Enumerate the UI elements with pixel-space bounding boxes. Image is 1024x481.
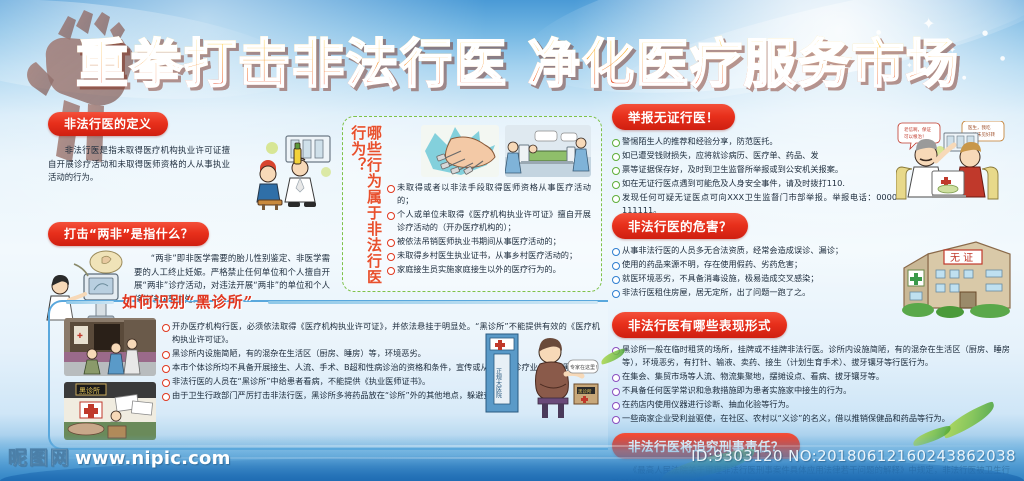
heading-report: 举报无证行医！	[612, 104, 735, 130]
illegal-behavior-item: 未取得乡村医生执业证书，从事乡村医疗活动的；	[387, 249, 591, 262]
svg-text:正规大医院: 正规大医院	[495, 368, 502, 399]
criminal-paragraph: 《最高人民法院关于审理非法行医刑事案件具体应用法律若干问题的解释》中规定，非法行…	[612, 464, 1010, 481]
page-title: 重拳打击非法行医 净化医疗服务市场	[118, 22, 918, 96]
building-sign-text: 无 证	[950, 252, 973, 264]
form-item: 一些商家企业受利益驱使，在社区、农村以“义诊”的名义，借以推销保健品和药品等行为…	[612, 412, 1010, 425]
harm-item: 从事非法行医的人员多无合法资质，经常会造成误诊、漏诊；	[612, 244, 858, 257]
illegal-behavior-item: 家庭接生员实施家庭接生以外的医疗行为的。	[387, 263, 591, 276]
svg-text:可以根治！: 可以根治！	[904, 133, 927, 140]
report-item: 票等证据保存好，及时到卫生监督所举报或到公安机关报案。	[612, 163, 900, 176]
illegal-practice-behaviors-box: 哪些行为属于非法行医行为？	[342, 116, 602, 292]
form-item: 黑诊所一般在临时租赁的场所，挂牌或不挂牌非法行医。诊所内设施简陋，有的混杂在生活…	[612, 343, 1010, 369]
wave-line-decoration	[0, 445, 1024, 447]
svg-text:黑诊所: 黑诊所	[578, 388, 592, 395]
heading-definition: 非法行医的定义	[48, 112, 168, 136]
harm-item: 非法行医租住房屋，居无定所，出了问题一跑了之。	[612, 286, 858, 299]
illegal-behavior-item: 个人或单位未取得《医疗机构执业许可证》擅自开展诊疗活动的（开办医疗机构的）；	[387, 208, 591, 234]
definition-heading-wrap: 非法行医的定义	[48, 112, 330, 136]
black-clinic-interior-illustration: 黑诊所	[64, 382, 156, 440]
identify-black-clinic-panel: 如何识别“黑诊所” ✚	[48, 300, 608, 450]
sparkle-icon: ●	[982, 30, 988, 37]
form-item: 在集会、集贸市场等人流、物流集聚地，摆摊设点、看病、拔牙镶牙等。	[612, 370, 1010, 383]
title-rule-right	[268, 301, 598, 304]
section-report: 举报无证行医！ 警惕陌生人的推荐和经验分享，防范医托。如已遭受钱财损失，应将就诊…	[612, 104, 1012, 205]
svg-text:专家在这里！: 专家在这里！	[570, 364, 600, 371]
sparkle-icon: ●	[1000, 56, 1005, 62]
illegal-behavior-item: 被依法吊销医师执业书期间从事医疗活动的；	[387, 235, 591, 248]
svg-text:医生，我吃: 医生，我吃	[968, 124, 991, 131]
pregnant-woman-building-illustration: 正规大医院 专家在这里！ 黑诊所	[480, 330, 600, 422]
svg-text:老信啊，保证: 老信啊，保证	[904, 126, 931, 133]
svg-text:✚: ✚	[77, 332, 83, 340]
harm-item: 就医环境恶劣，不具备消毒设施，极易造成交叉感染；	[612, 272, 858, 285]
heading-liangfei: 打击“两非”是指什么？	[48, 222, 209, 246]
poster-canvas: ✦ ✦ ✦ ● ● ● ● 重拳打	[0, 0, 1024, 481]
svg-text:黑诊所: 黑诊所	[79, 386, 100, 395]
main-title-text: 重拳打击非法行医 净化医疗服务市场	[76, 22, 960, 97]
green-box-vertical-title: 哪些行为属于非法行医行为？	[351, 125, 381, 291]
wave-line-decoration	[0, 457, 1024, 459]
middle-column: 哪些行为属于非法行医行为？	[342, 116, 602, 292]
doctor-examining-patient-illustration	[238, 134, 336, 210]
title-rule-left	[66, 301, 114, 304]
doctor-consulting-patient-illustration: 老信啊，保证 可以根治！ 医生，我吃 了药未见好转	[896, 121, 1016, 205]
section-forms: 非法行医有哪些表现形式 黑诊所一般在临时租赁的场所，挂牌或不挂牌非法行医。诊所内…	[612, 312, 1012, 425]
harm-list: 从事非法行医的人员多无合法资质，经常会造成误诊、漏诊；使用的药品来源不明，存在使…	[612, 244, 858, 299]
unlicensed-hospital-building-illustration: 无 证	[898, 238, 1018, 318]
hospital-bed-patient-illustration	[505, 125, 591, 177]
form-item: 在药店内使用仪器进行诊断、抽血化验等行为。	[612, 398, 1010, 411]
liangfei-heading-wrap: 打击“两非”是指什么？	[48, 222, 330, 246]
heading-harm: 非法行医的危害？	[612, 213, 748, 239]
harm-heading-wrap: 非法行医的危害？	[612, 213, 1012, 239]
shack-clinic-illustration: ✚	[64, 318, 156, 376]
definition-paragraph: 非法行医是指未取得医疗机构执业许可证擅自开展诊疗活动和未取得医师资格的人从事执业…	[48, 142, 230, 185]
report-item: 如在无证行医点遇到可能危及人身安全事件，请及时拨打110.	[612, 177, 900, 190]
forms-heading-wrap: 非法行医有哪些表现形式	[612, 312, 1012, 338]
report-item: 警惕陌生人的推荐和经验分享，防范医托。	[612, 135, 900, 148]
sparkle-icon: ●	[962, 76, 966, 81]
hand-injection-illustration	[421, 125, 499, 177]
heading-forms: 非法行医有哪些表现形式	[612, 312, 787, 338]
forms-list: 黑诊所一般在临时租赁的场所，挂牌或不挂牌非法行医。诊所内设施简陋，有的混杂在生活…	[612, 343, 1010, 425]
harm-item: 使用的药品来源不明，存在使用假药、劣药危害；	[612, 258, 858, 271]
right-column: 举报无证行医！ 警惕陌生人的推荐和经验分享，防范医托。如已遭受钱财损失，应将就诊…	[612, 104, 1012, 481]
illegal-behaviors-list: 未取得或者以非法手段取得医师资格从事医疗活动的；个人或单位未取得《医疗机构执业许…	[387, 181, 591, 276]
report-item: 如已遭受钱财损失，应将就诊病历、医疗单、药品、发	[612, 149, 900, 162]
section-harm: 非法行医的危害？ 从事非法行医的人员多无合法资质，经常会造成误诊、漏诊；使用的药…	[612, 213, 1012, 304]
clinic-illustrations: ✚ 黑诊	[64, 318, 156, 440]
section-definition: 非法行医的定义	[48, 112, 330, 214]
form-item: 不具备任何医学常识和急救措施即为患者实施家中接生的行为。	[612, 384, 1010, 397]
heading-identify-black-clinic: 如何识别“黑诊所”	[114, 291, 261, 312]
report-list: 警惕陌生人的推荐和经验分享，防范医托。如已遭受钱财损失，应将就诊病历、医疗单、药…	[612, 135, 900, 217]
illegal-behavior-item: 未取得或者以非法手段取得医师资格从事医疗活动的；	[387, 181, 591, 207]
